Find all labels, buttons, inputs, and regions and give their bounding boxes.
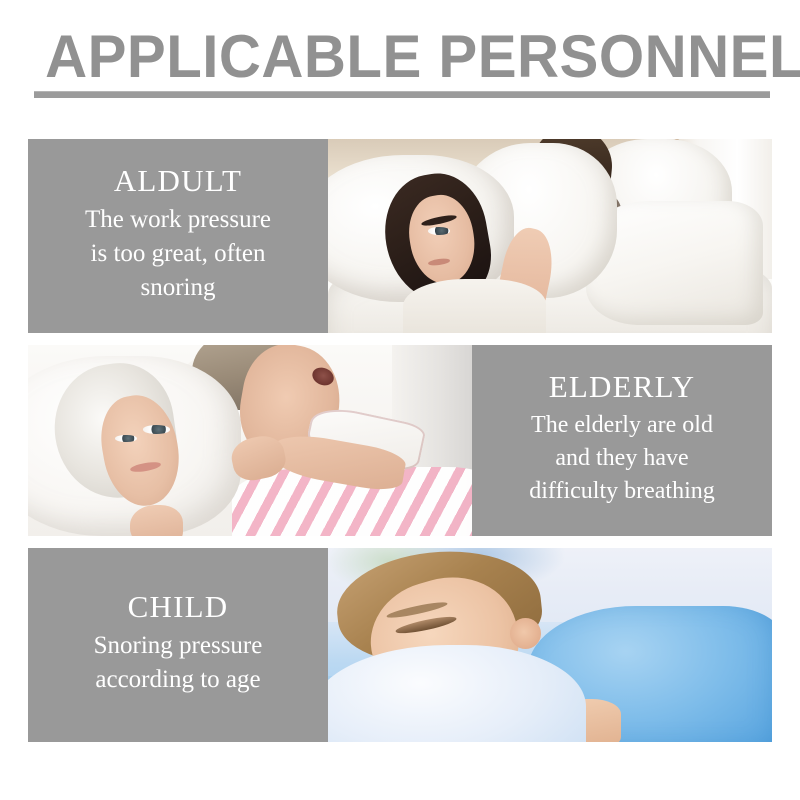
elderly-heading: ELDERLY [549,367,696,407]
photo-woman-eye [428,227,450,235]
title-underline-rule [34,91,770,98]
elderly-body-line-3: difficulty breathing [529,475,715,508]
adult-couple-photo [328,139,772,333]
photo-elder-woman-eye-right [143,425,170,434]
child-text-panel: CHILD Snoring pressure according to age [28,548,328,742]
page-title: APPLICABLE PERSONNEL [45,26,761,88]
photo-woman-top [403,279,545,333]
adult-text-panel: ALDULT The work pressure is too great, o… [28,139,328,333]
child-heading: CHILD [128,587,229,627]
elderly-body-line-1: The elderly are old [529,409,715,442]
elderly-text-panel: ELDERLY The elderly are old and they hav… [472,345,772,536]
adult-body-text: The work pressure is too great, often sn… [85,203,271,305]
poster-header: APPLICABLE PERSONNEL [0,0,800,112]
section-adult: ALDULT The work pressure is too great, o… [28,139,772,333]
child-body-line-2: according to age [94,663,263,697]
adult-heading: ALDULT [114,161,242,201]
applicable-personnel-poster: APPLICABLE PERSONNEL ALDULT The work pre… [0,0,800,800]
elderly-body-text: The elderly are old and they have diffic… [529,409,715,508]
adult-body-line-2: is too great, often [85,237,271,271]
child-sleeping-photo [328,548,772,742]
adult-body-line-1: The work pressure [85,203,271,237]
photo-elder-woman-hand [130,505,183,536]
child-body-text: Snoring pressure according to age [94,629,263,697]
elderly-body-line-2: and they have [529,442,715,475]
adult-body-line-3: snoring [85,271,271,305]
child-body-line-1: Snoring pressure [94,629,263,663]
section-child: CHILD Snoring pressure according to age [28,548,772,742]
elderly-couple-photo [28,345,472,536]
photo-child-ear [510,618,541,649]
section-elderly: ELDERLY The elderly are old and they hav… [28,345,772,536]
